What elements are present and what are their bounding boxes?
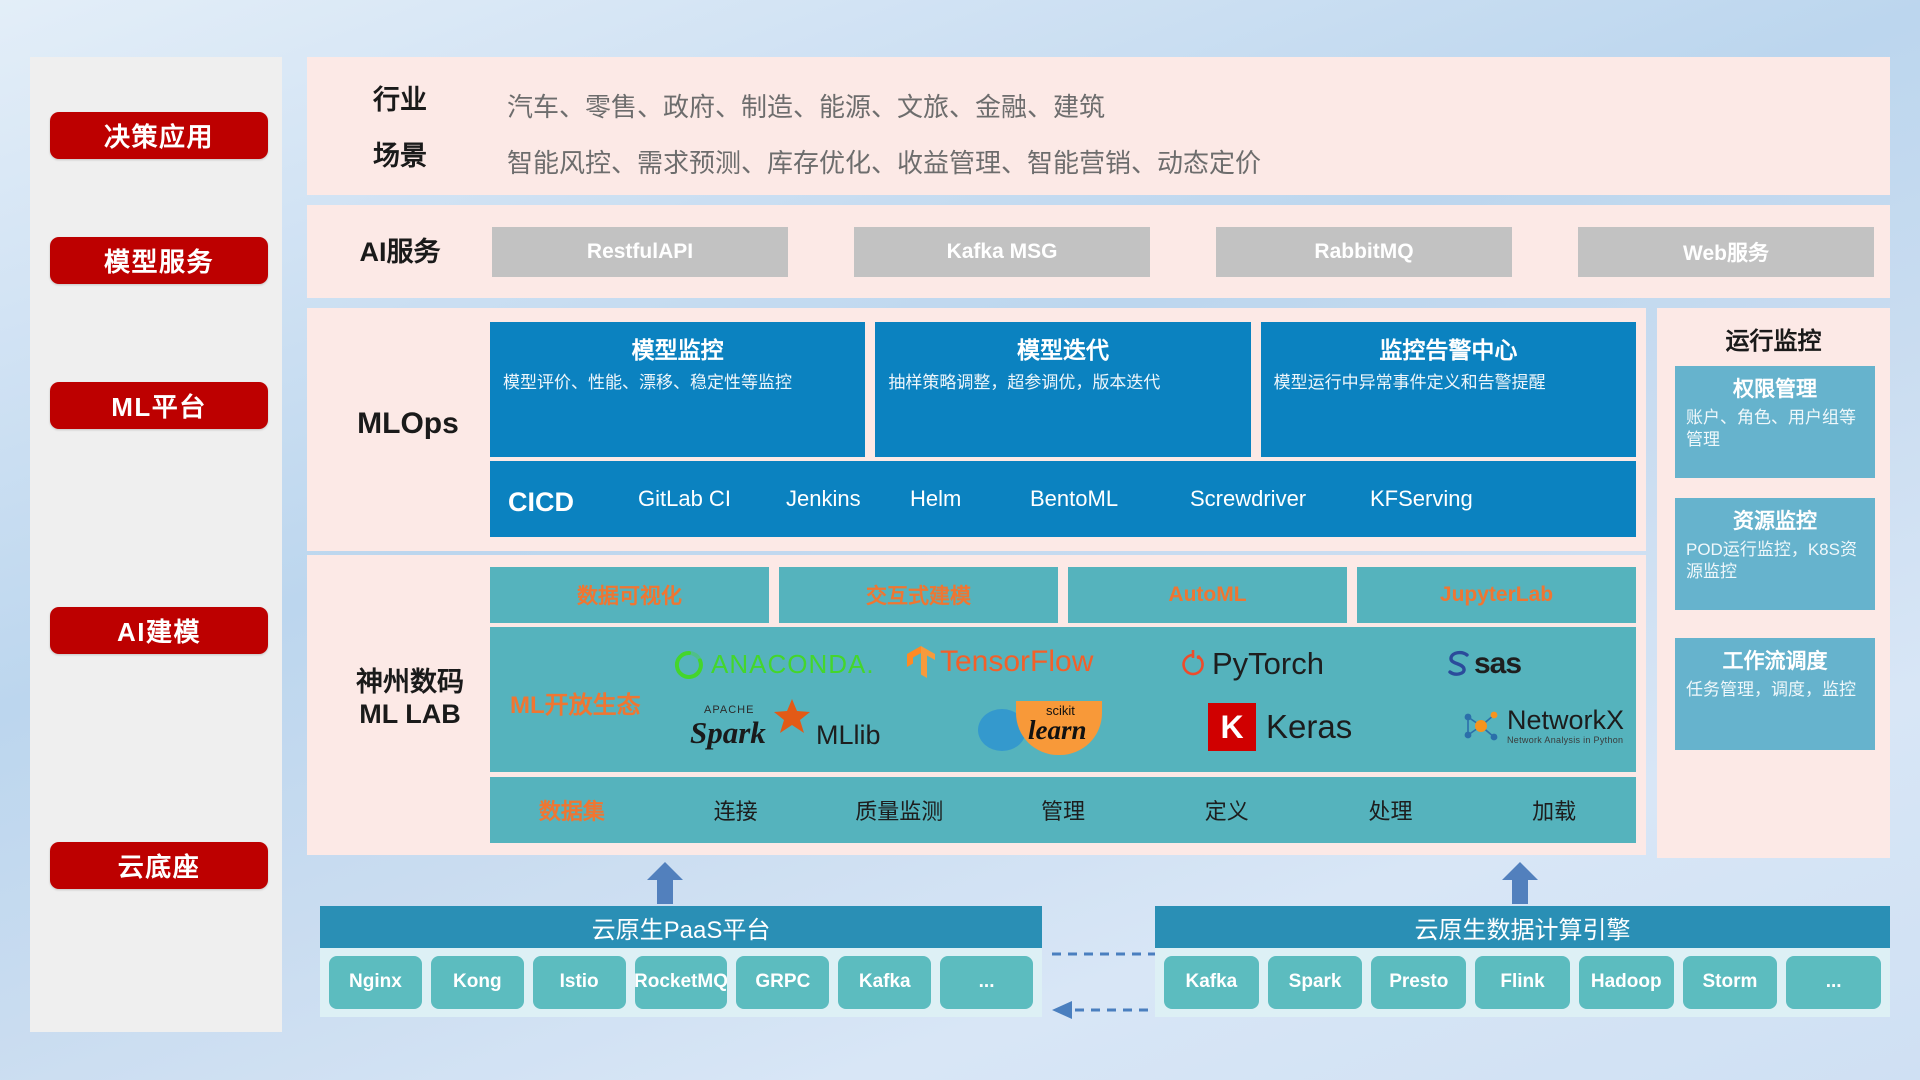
scenario-label: 场景 [335, 141, 465, 173]
mlops-panel: MLOps 模型监控 模型评价、性能、漂移、稳定性等监控 模型迭代 抽样策略调整… [307, 308, 1646, 551]
arrowhead-left [1052, 1001, 1072, 1019]
mlops-card-model-monitor[interactable]: 模型监控 模型评价、性能、漂移、稳定性等监控 [490, 322, 865, 457]
paas-chip-more[interactable]: ... [940, 956, 1033, 1009]
sas-mark [1445, 649, 1473, 679]
engine-chip-storm[interactable]: Storm [1683, 956, 1778, 1009]
dataset-item-define[interactable]: 定义 [1145, 794, 1309, 826]
card-title: 监控告警中心 [1274, 331, 1623, 365]
tool-data-visualization[interactable]: 数据可视化 [490, 567, 769, 623]
pytorch-mark [1180, 649, 1206, 679]
networkx-wordmark: NetworkX [1507, 707, 1624, 734]
layer-pill-cloud-base[interactable]: 云底座 [50, 842, 268, 889]
ml-lab-panel: 神州数码 ML LAB 数据可视化 交互式建模 AutoML JupyterLa… [307, 555, 1646, 855]
engine-chip-hadoop[interactable]: Hadoop [1579, 956, 1674, 1009]
monitoring-card-resource[interactable]: 资源监控 POD运行监控，K8S资源监控 [1675, 498, 1875, 610]
sas-wordmark: sas [1474, 647, 1521, 681]
spark-wordmark: Spark [690, 715, 766, 751]
paas-chip-rocketmq[interactable]: RocketMQ [635, 956, 728, 1009]
paas-up-arrow [645, 862, 685, 902]
spark-mllib-logo[interactable]: APACHE Spark MLlib [688, 703, 881, 755]
ai-service-panel: AI服务 RestfulAPI Kafka MSG RabbitMQ Web服务 [307, 205, 1890, 298]
paas-title: 云原生PaaS平台 [320, 906, 1042, 948]
card-title: 模型监控 [503, 331, 852, 365]
spark-star [772, 697, 812, 737]
tool-jupyterlab[interactable]: JupyterLab [1357, 567, 1636, 623]
ai-service-item-kafka-msg[interactable]: Kafka MSG [854, 227, 1150, 277]
paas-chips: Nginx Kong Istio RocketMQ GRPC Kafka ... [320, 948, 1042, 1017]
ai-service-item-restfulapi[interactable]: RestfulAPI [492, 227, 788, 277]
mllib-wordmark: MLlib [816, 720, 881, 755]
paas-chip-nginx[interactable]: Nginx [329, 956, 422, 1009]
engine-chip-presto[interactable]: Presto [1371, 956, 1466, 1009]
tool-interactive-modeling[interactable]: 交互式建模 [779, 567, 1058, 623]
spark-mark: APACHE Spark [688, 703, 808, 755]
cicd-item-gitlab-ci[interactable]: GitLab CI [638, 483, 748, 515]
anaconda-mark [674, 650, 704, 680]
data-engine-chips: Kafka Spark Presto Flink Hadoop Storm ..… [1155, 948, 1890, 1017]
keras-mark: K [1208, 703, 1256, 751]
layer-rail: 决策应用 模型服务 ML平台 AI建模 云底座 [30, 57, 282, 1032]
ai-service-label: AI服务 [335, 237, 465, 269]
paas-group: 云原生PaaS平台 Nginx Kong Istio RocketMQ GRPC… [320, 906, 1042, 1017]
cicd-item-screwdriver[interactable]: Screwdriver [1190, 483, 1306, 515]
paas-chip-kong[interactable]: Kong [431, 956, 524, 1009]
monitoring-card-workflow[interactable]: 工作流调度 任务管理，调度，监控 [1675, 638, 1875, 750]
ai-service-item-web[interactable]: Web服务 [1578, 227, 1874, 277]
ml-lab-label: 神州数码 ML LAB [325, 667, 495, 731]
ecosystem-logo-grid: ANACONDA. TensorFlow PyTorch [660, 631, 1630, 768]
networkx-logo[interactable]: NetworkX Network Analysis in Python [1460, 705, 1624, 747]
layer-pill-model-serve[interactable]: 模型服务 [50, 237, 268, 284]
cicd-item-bentoml[interactable]: BentoML [1030, 483, 1116, 515]
scenario-values: 智能风控、需求预测、库存优化、收益管理、智能营销、动态定价 [507, 143, 1261, 180]
cicd-item-kfserving[interactable]: KFServing [1370, 483, 1470, 515]
mlops-label: MLOps [329, 406, 487, 441]
pytorch-wordmark: PyTorch [1212, 646, 1324, 682]
card-desc: 账户、角色、用户组等管理 [1686, 407, 1864, 452]
data-engine-up-arrow [1500, 862, 1540, 902]
dataset-bar: 数据集 连接 质量监测 管理 定义 处理 加载 [490, 777, 1636, 843]
card-desc: 任务管理，调度，监控 [1686, 679, 1864, 701]
cicd-label: CICD [508, 483, 618, 522]
card-title: 模型迭代 [888, 331, 1237, 365]
engine-chip-flink[interactable]: Flink [1475, 956, 1570, 1009]
paas-chip-istio[interactable]: Istio [533, 956, 626, 1009]
dataset-item-load[interactable]: 加载 [1472, 794, 1636, 826]
card-desc: 抽样策略调整，超参调优，版本迭代 [888, 372, 1237, 395]
ml-lab-tools: 数据可视化 交互式建模 AutoML JupyterLab [490, 567, 1636, 623]
layer-pill-decision[interactable]: 决策应用 [50, 112, 268, 159]
engine-chip-spark[interactable]: Spark [1268, 956, 1363, 1009]
keras-mark-letter: K [1220, 709, 1243, 746]
tensorflow-wordmark: TensorFlow [940, 645, 1093, 679]
scikit-learn-logo[interactable]: scikit learn [978, 701, 1128, 755]
dataset-item-process[interactable]: 处理 [1309, 794, 1473, 826]
mlops-card-alert-center[interactable]: 监控告警中心 模型运行中异常事件定义和告警提醒 [1261, 322, 1636, 457]
card-desc: 模型评价、性能、漂移、稳定性等监控 [503, 372, 852, 395]
engine-chip-kafka[interactable]: Kafka [1164, 956, 1259, 1009]
sas-logo[interactable]: sas [1445, 647, 1521, 681]
runtime-monitoring-panel: 运行监控 权限管理 账户、角色、用户组等管理 资源监控 POD运行监控，K8S资… [1657, 308, 1890, 858]
card-title: 工作流调度 [1686, 645, 1864, 675]
ai-service-items: RestfulAPI Kafka MSG RabbitMQ Web服务 [492, 227, 1874, 277]
ml-open-ecosystem: ML开放生态 ANACONDA. TensorFlow [490, 627, 1636, 772]
layer-pill-ml-platform[interactable]: ML平台 [50, 382, 268, 429]
engine-chip-more[interactable]: ... [1786, 956, 1881, 1009]
ml-lab-label-line1: 神州数码 [325, 667, 495, 699]
dataset-item-quality-monitor[interactable]: 质量监测 [817, 794, 981, 826]
card-title: 资源监控 [1686, 505, 1864, 535]
layer-pill-ai-modeling[interactable]: AI建模 [50, 607, 268, 654]
data-engine-title: 云原生数据计算引擎 [1155, 906, 1890, 948]
scikit-wordmark: learn [1028, 715, 1087, 746]
card-title: 权限管理 [1686, 373, 1864, 403]
anaconda-logo[interactable]: ANACONDA. [674, 649, 875, 680]
anaconda-wordmark: ANACONDA. [711, 649, 875, 680]
data-engine-group: 云原生数据计算引擎 Kafka Spark Presto Flink Hadoo… [1155, 906, 1890, 1017]
ai-service-item-rabbitmq[interactable]: RabbitMQ [1216, 227, 1512, 277]
dataset-item-connect[interactable]: 连接 [654, 794, 818, 826]
cicd-bar: CICD GitLab CI Jenkins Helm BentoML Scre… [490, 461, 1636, 537]
tensorflow-mark [907, 645, 937, 679]
industry-values: 汽车、零售、政府、制造、能源、文旅、金融、建筑 [507, 87, 1105, 124]
mlops-cards: 模型监控 模型评价、性能、漂移、稳定性等监控 模型迭代 抽样策略调整，超参调优，… [490, 322, 1636, 457]
runtime-monitoring-title: 运行监控 [1657, 308, 1890, 356]
card-desc: 模型运行中异常事件定义和告警提醒 [1274, 372, 1623, 395]
networkx-tagline: Network Analysis in Python [1507, 736, 1624, 745]
pytorch-logo[interactable]: PyTorch [1180, 646, 1324, 682]
card-desc: POD运行监控，K8S资源监控 [1686, 539, 1864, 584]
mlops-card-model-iteration[interactable]: 模型迭代 抽样策略调整，超参调优，版本迭代 [875, 322, 1250, 457]
keras-logo[interactable]: K Keras [1208, 703, 1352, 751]
networkx-mark [1460, 705, 1502, 747]
ml-lab-label-line2: ML LAB [325, 699, 495, 731]
dataset-item-manage[interactable]: 管理 [981, 794, 1145, 826]
dataset-label: 数据集 [490, 794, 654, 826]
paas-chip-grpc[interactable]: GRPC [736, 956, 829, 1009]
tool-automl[interactable]: AutoML [1068, 567, 1347, 623]
monitoring-card-permission[interactable]: 权限管理 账户、角色、用户组等管理 [1675, 366, 1875, 478]
paas-chip-kafka[interactable]: Kafka [838, 956, 931, 1009]
ml-open-ecosystem-label: ML开放生态 [510, 685, 641, 720]
keras-wordmark: Keras [1266, 708, 1352, 746]
industry-label: 行业 [335, 85, 465, 117]
decision-application-panel: 行业 汽车、零售、政府、制造、能源、文旅、金融、建筑 场景 智能风控、需求预测、… [307, 57, 1890, 195]
tensorflow-logo[interactable]: TensorFlow [907, 645, 1093, 679]
cicd-item-helm[interactable]: Helm [910, 483, 1020, 515]
cicd-item-jenkins[interactable]: Jenkins [786, 483, 864, 515]
